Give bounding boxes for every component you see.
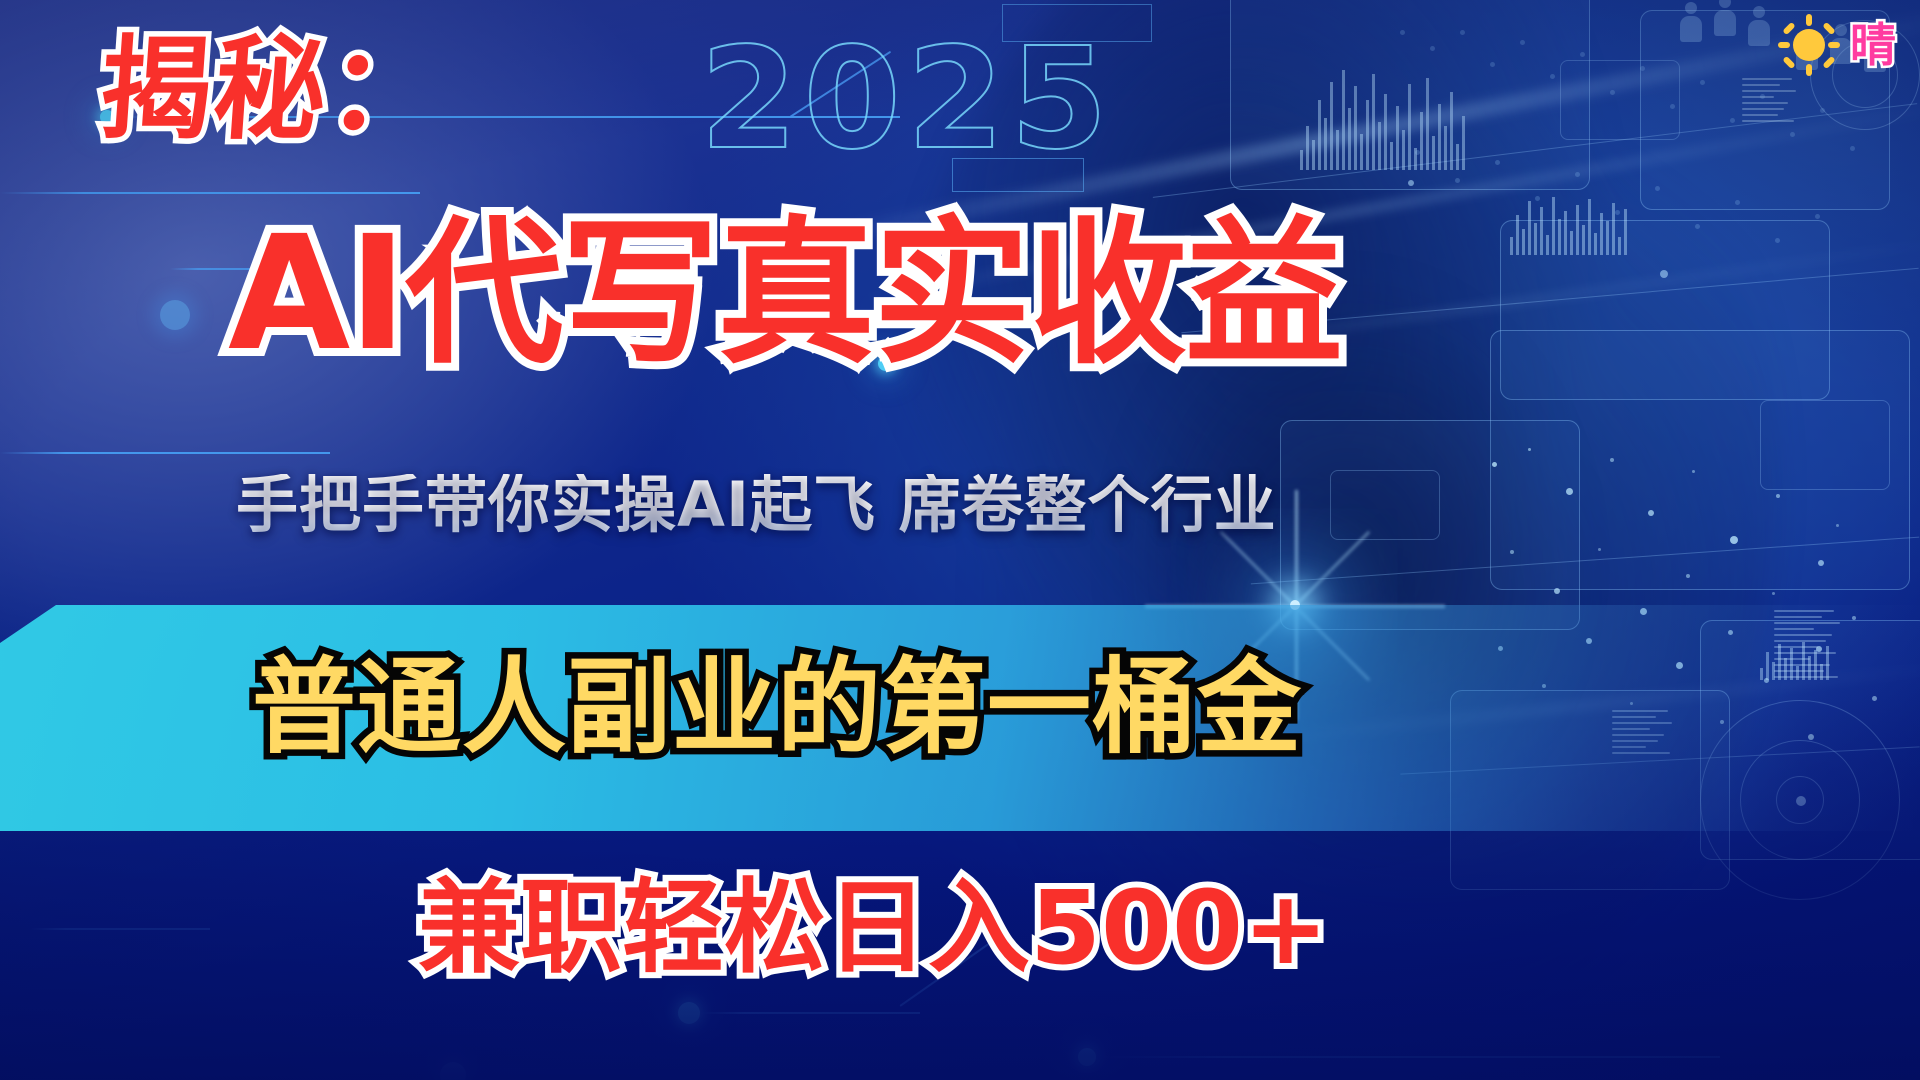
- headline-prefix: 揭秘：: [96, 34, 446, 146]
- year-watermark: 2025: [700, 30, 1114, 170]
- headline-main: AI代写真实收益: [228, 215, 1341, 373]
- sun-icon: [1778, 14, 1840, 76]
- banner-text: 普通人副业的第一桶金: [252, 655, 1302, 759]
- bottom-callout-text: 兼职轻松日入500+: [418, 878, 1328, 980]
- weather-label: 晴: [1850, 22, 1896, 68]
- weather-badge: 晴: [1778, 14, 1896, 76]
- subtitle-line: 手把手带你实操AI起飞 席卷整个行业: [236, 474, 1277, 536]
- promo-poster: 2025 晴 揭秘： AI代写真实收益 手把手带你实操AI起飞 席卷整个行业 普…: [0, 0, 1920, 1080]
